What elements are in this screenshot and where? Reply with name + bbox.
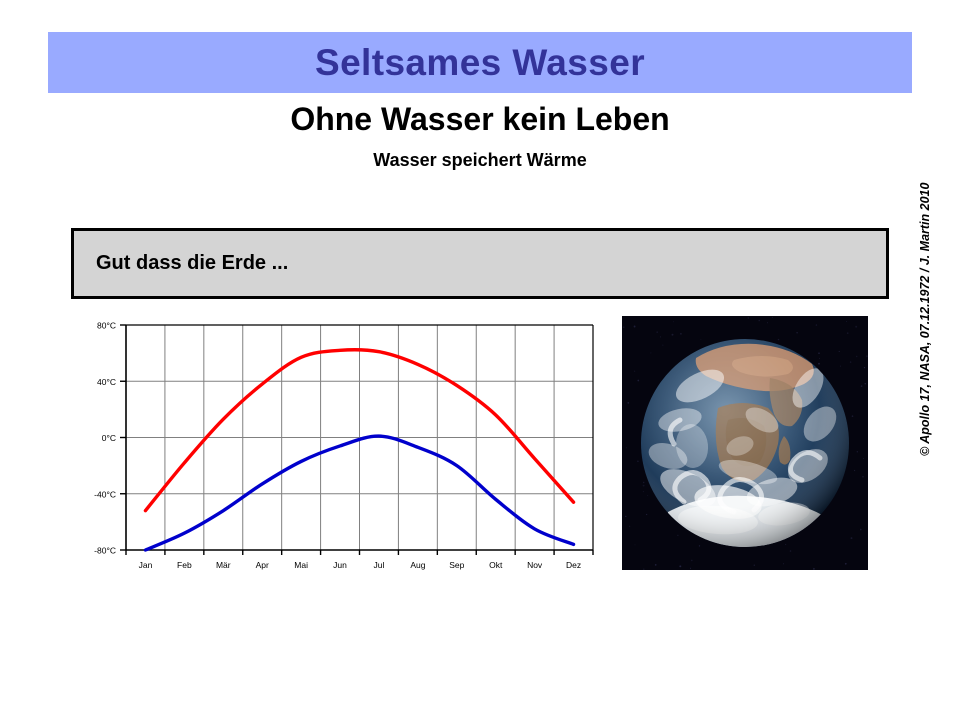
star-speck <box>662 345 663 346</box>
star-speck <box>796 332 797 333</box>
chart-x-tick-label: Apr <box>256 560 269 570</box>
star-speck <box>629 526 630 527</box>
chart-x-tick-label: Mär <box>216 560 231 570</box>
chart-y-tick-label: 0°C <box>102 433 116 443</box>
star-speck <box>679 565 681 567</box>
star-speck <box>819 358 820 359</box>
chart-x-tick-label: Sep <box>449 560 464 570</box>
slide-canvas: Seltsames Wasser Ohne Wasser kein Leben … <box>0 0 960 720</box>
star-speck <box>748 317 749 318</box>
star-speck <box>839 351 840 352</box>
star-speck <box>699 545 700 546</box>
star-speck <box>660 336 661 337</box>
chart-x-tick-label: Feb <box>177 560 192 570</box>
star-speck <box>865 383 866 384</box>
star-speck <box>790 550 792 552</box>
star-speck <box>813 568 815 570</box>
star-speck <box>691 560 693 562</box>
star-speck <box>845 563 847 565</box>
star-speck <box>700 339 701 340</box>
chart-x-tick-label: Jan <box>139 560 153 570</box>
star-speck <box>627 402 629 404</box>
subheadline: Wasser speichert Wärme <box>0 150 960 171</box>
star-speck <box>857 451 858 452</box>
star-speck <box>758 320 760 322</box>
star-speck <box>847 332 849 334</box>
star-speck <box>647 495 648 496</box>
star-speck <box>655 564 657 566</box>
blue-marble-earth-image <box>622 316 868 570</box>
star-speck <box>643 482 644 483</box>
star-speck <box>850 361 851 362</box>
star-speck <box>643 491 644 492</box>
star-speck <box>625 516 626 517</box>
star-speck <box>637 460 639 462</box>
star-speck <box>673 321 674 322</box>
star-speck <box>637 380 639 382</box>
chart-y-tick-label: -80°C <box>94 546 116 556</box>
title-banner: Seltsames Wasser <box>48 32 912 93</box>
chart-x-tick-label: Dez <box>566 560 581 570</box>
star-speck <box>864 367 865 368</box>
copyright-credit: © Apollo 17, NASA, 07.12.1972 / J. Marti… <box>913 176 937 456</box>
star-speck <box>816 324 817 325</box>
star-speck <box>767 322 768 323</box>
earth-terminator-shading <box>641 339 849 547</box>
chart-x-ticks: JanFebMärAprMaiJunJulAugSepOktNovDez <box>126 550 593 570</box>
star-speck <box>866 355 868 357</box>
star-speck <box>855 326 857 328</box>
star-speck <box>634 326 636 328</box>
star-speck <box>783 563 784 564</box>
earth-svg <box>622 316 868 570</box>
star-speck <box>677 535 678 536</box>
star-speck <box>672 334 674 336</box>
star-speck <box>778 339 779 340</box>
callout-box: Gut dass die Erde ... <box>71 228 889 299</box>
star-speck <box>863 458 864 459</box>
star-speck <box>856 356 857 357</box>
star-speck <box>626 447 627 448</box>
star-speck <box>656 331 658 333</box>
star-speck <box>851 537 853 539</box>
chart-y-tick-label: 40°C <box>97 377 116 387</box>
chart-x-tick-label: Jul <box>374 560 385 570</box>
star-speck <box>846 321 847 322</box>
chart-y-tick-label: -40°C <box>94 489 116 499</box>
star-speck <box>772 317 773 318</box>
star-speck <box>785 544 786 545</box>
chart-y-ticks: 80°C40°C0°C-40°C-80°C <box>94 321 126 556</box>
chart-x-tick-label: Aug <box>410 560 425 570</box>
star-speck <box>840 366 841 367</box>
callout-text: Gut dass die Erde ... <box>74 252 288 275</box>
star-speck <box>754 565 755 566</box>
star-speck <box>818 363 820 365</box>
temperature-chart: 80°C40°C0°C-40°C-80°C JanFebMärAprMaiJun… <box>78 312 603 574</box>
star-speck <box>854 470 855 471</box>
page-title: Seltsames Wasser <box>315 44 645 81</box>
star-speck <box>818 352 820 354</box>
chart-x-tick-label: Jun <box>333 560 347 570</box>
chart-y-tick-label: 80°C <box>97 321 116 331</box>
chart-svg: 80°C40°C0°C-40°C-80°C JanFebMärAprMaiJun… <box>78 312 603 574</box>
star-speck <box>862 476 864 478</box>
star-speck <box>634 544 635 545</box>
star-speck <box>650 352 651 353</box>
star-speck <box>643 485 645 487</box>
star-speck <box>646 514 647 515</box>
star-speck <box>860 529 862 531</box>
star-speck <box>690 568 691 569</box>
chart-x-tick-label: Okt <box>489 560 503 570</box>
chart-x-tick-label: Nov <box>527 560 543 570</box>
headline: Ohne Wasser kein Leben <box>0 101 960 138</box>
star-speck <box>623 326 625 328</box>
star-speck <box>680 333 682 335</box>
chart-x-tick-label: Mai <box>294 560 308 570</box>
star-speck <box>634 371 635 372</box>
star-speck <box>852 415 854 417</box>
star-speck <box>643 568 645 570</box>
star-speck <box>861 385 863 387</box>
